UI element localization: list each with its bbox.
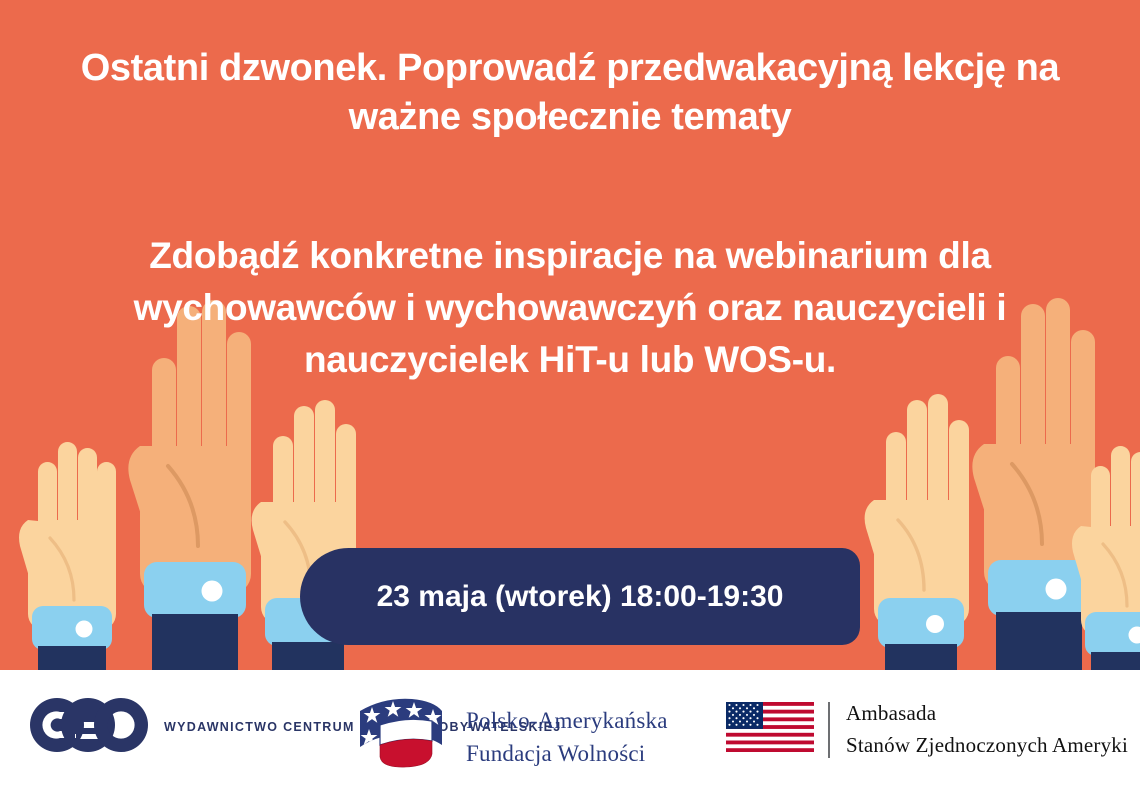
- date-badge-text: 23 maja (wtorek) 18:00-19:30: [377, 580, 784, 614]
- embassy-wordmark: Ambasada Stanów Zjednoczonych Ameryki: [846, 698, 1128, 761]
- promo-poster: Ostatni dzwonek. Poprowadź przedwakacyjn…: [0, 0, 1140, 800]
- logo-us-embassy: Ambasada Stanów Zjednoczonych Ameryki: [726, 698, 1128, 761]
- hand-6: [1063, 370, 1140, 670]
- ceo-monogram-icon: [30, 698, 148, 757]
- logo-divider: [828, 702, 830, 758]
- pafw-line-1: Polsko-Amerykańska: [466, 705, 668, 738]
- footer-logo-bar: WYDAWNICTWO CENTRUM EDUKACJI OBYWATELSKI…: [0, 670, 1140, 800]
- poster-stage: Ostatni dzwonek. Poprowadź przedwakacyjn…: [0, 0, 1140, 670]
- polish-american-flag-banner-icon: [352, 695, 452, 780]
- pafw-wordmark: Polsko-Amerykańska Fundacja Wolności: [466, 705, 668, 770]
- ceo-line-1: WYDAWNICTWO: [164, 720, 278, 734]
- date-badge: 23 maja (wtorek) 18:00-19:30: [300, 548, 860, 645]
- us-flag-icon: [726, 702, 814, 757]
- embassy-line-1: Ambasada: [846, 698, 1128, 730]
- pafw-line-2: Fundacja Wolności: [466, 738, 668, 771]
- logo-pafw: Polsko-Amerykańska Fundacja Wolności: [352, 695, 668, 780]
- embassy-line-2: Stanów Zjednoczonych Ameryki: [846, 730, 1128, 762]
